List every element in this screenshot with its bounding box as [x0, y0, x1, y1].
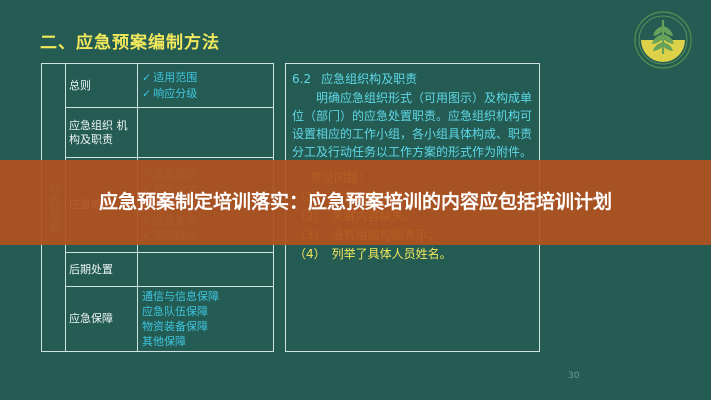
table-row: 总则 ✓适用范围 ✓响应分级 [66, 64, 273, 108]
detail-heading-text: 应急组织构及职责 [321, 72, 417, 86]
page-number: 30 [568, 371, 579, 381]
grain-emblem-logo [633, 10, 693, 70]
table-row-name: 总则 [66, 64, 138, 107]
table-row-name: 应急保障 [66, 287, 138, 351]
table-row: 应急保障 通信与信息保障 应急队伍保障 物资装备保障 其他保障 [66, 287, 273, 351]
table-item: 其他保障 [142, 334, 273, 349]
list-item-index: （4） [294, 247, 326, 261]
detail-heading: 6.2应急组织构及职责 [292, 70, 533, 88]
table-row-name: 后期处置 [66, 253, 138, 286]
overlay-banner-text: 应急预案制定培训落实：应急预案培训的内容应包括培训计划 [99, 190, 612, 215]
page-title: 二、应急预案编制方法 [40, 28, 220, 53]
overlay-banner: 应急预案制定培训落实：应急预案培训的内容应包括培训计划 [0, 160, 711, 245]
table-row: 应急组织 机构及职责 [66, 108, 273, 158]
detail-heading-number: 6.2 [292, 72, 311, 86]
check-icon: ✓ [142, 71, 151, 84]
table-row: 后期处置 [66, 253, 273, 287]
detail-paragraph: 明确应急组织形式（可用图示）及构成单位（部门）的应急处置职责。应急组织机构可设置… [292, 89, 533, 161]
table-row-items [138, 108, 273, 157]
table-item: ✓响应分级 [142, 86, 273, 101]
check-icon: ✓ [142, 87, 151, 100]
list-item-text: 列举了具体人员姓名。 [332, 247, 452, 261]
table-item: 应急队伍保障 [142, 304, 273, 319]
table-item: 物资装备保障 [142, 319, 273, 334]
table-row-items: ✓适用范围 ✓响应分级 [138, 64, 273, 107]
table-row-items [138, 253, 273, 286]
list-item: （4）列举了具体人员姓名。 [294, 245, 533, 264]
table-row-items: 通信与信息保障 应急队伍保障 物资装备保障 其他保障 [138, 287, 273, 351]
table-row-name: 应急组织 机构及职责 [66, 108, 138, 157]
slide-canvas: 二、应急预案编制方法 综合预案 总则 ✓适用范围 ✓响应分级 应急组织 机构及职… [0, 0, 711, 400]
table-item: 通信与信息保障 [142, 289, 273, 304]
table-item: ✓适用范围 [142, 70, 273, 85]
